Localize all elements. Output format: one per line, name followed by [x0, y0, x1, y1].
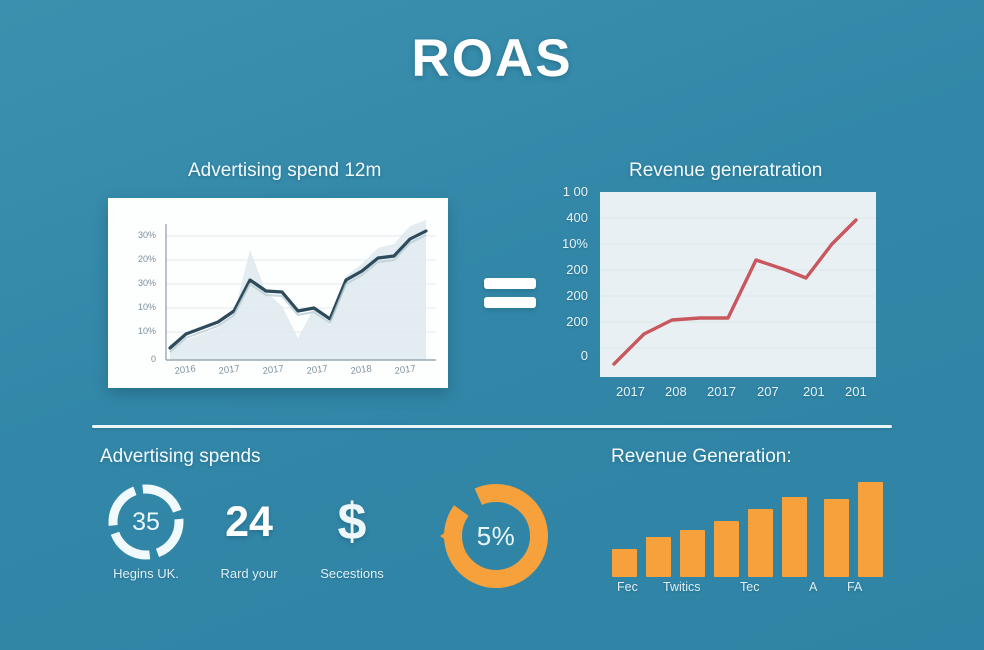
equals-bar-top	[484, 278, 536, 289]
bar-2	[646, 537, 671, 577]
bar-tick-1: Twitics	[663, 580, 701, 594]
left-ytick-2: 30%	[122, 278, 156, 288]
left-ytick-4: 10%	[122, 326, 156, 336]
advertising-spends-heading: Advertising spends	[100, 446, 261, 468]
kpi-number-caption: Rard your	[199, 566, 299, 581]
right-ytick-4: 200	[548, 288, 588, 303]
bar-3	[680, 530, 705, 577]
right-ytick-5: 200	[548, 314, 588, 329]
bar-tick-0: Fec	[617, 580, 638, 594]
right-ytick-2: 10%	[548, 236, 588, 251]
right-ytick-1: 400	[548, 210, 588, 225]
left-ytick-5: 0	[122, 354, 156, 364]
kpi-number-visual: 24	[199, 482, 299, 562]
equals-bar-bottom	[484, 297, 536, 308]
right-xtick-2: 2017	[707, 384, 736, 399]
percent-donut-value: 5%	[434, 474, 558, 598]
right-xtick-3: 207	[757, 384, 779, 399]
kpi-number-24: 24 Rard your	[199, 482, 299, 592]
kpi-donut-visual: 35	[96, 482, 196, 562]
right-xtick-1: 208	[665, 384, 687, 399]
kpi-donut-value: 35	[96, 482, 196, 562]
right-ytick-3: 200	[548, 262, 588, 277]
kpi-dollar-visual: $	[302, 482, 402, 562]
left-ytick-0: 30%	[122, 230, 156, 240]
kpi-dollar: $ Secestions	[302, 482, 402, 592]
revenue-generation-line-chart	[600, 192, 876, 377]
left-ytick-3: 10%	[122, 302, 156, 312]
infographic-canvas: ROAS Advertising spend 12m 30% 20%	[0, 0, 984, 650]
right-ytick-6: 0	[548, 348, 588, 363]
dollar-icon: $	[338, 492, 367, 552]
bar-8	[858, 482, 883, 577]
bar-tick-4: FA	[847, 580, 862, 594]
kpi-donut-caption: Hegins UK.	[96, 566, 196, 581]
left-chart-title: Advertising spend 12m	[188, 160, 381, 182]
bar-7	[824, 499, 849, 577]
page-title: ROAS	[0, 28, 984, 89]
percent-donut-chart: 5%	[434, 474, 558, 598]
equals-icon	[484, 278, 536, 312]
kpi-row: 35 Hegins UK. 24 Rard your $ Secestions	[96, 482, 426, 592]
bar-1	[612, 549, 637, 577]
right-xtick-0: 2017	[616, 384, 645, 399]
bar-tick-3: A	[809, 580, 817, 594]
revenue-generation-heading: Revenue Generation:	[611, 446, 792, 468]
kpi-dollar-caption: Secestions	[302, 566, 402, 581]
revenue-line	[614, 220, 856, 364]
kpi-number-value: 24	[225, 498, 273, 547]
gridlines	[600, 218, 876, 348]
right-xtick-4: 201	[803, 384, 825, 399]
section-divider	[92, 425, 892, 428]
bar-4	[714, 521, 739, 577]
advertising-spend-line-chart	[108, 198, 448, 388]
left-ytick-1: 20%	[122, 254, 156, 264]
bar-6	[782, 497, 807, 577]
right-xtick-5: 201	[845, 384, 867, 399]
area-fill	[170, 220, 426, 360]
revenue-generation-chart-card: 1 00 400 10% 200 200 200 0 2017 208 2017…	[600, 192, 876, 377]
kpi-donut-35: 35 Hegins UK.	[96, 482, 196, 592]
revenue-generation-bar-chart	[612, 472, 872, 577]
right-chart-title: Revenue generatration	[629, 160, 822, 182]
advertising-spend-chart-card: 30% 20% 30% 10% 10% 0 2016 2017 2017 201…	[108, 198, 448, 388]
bar-5	[748, 509, 773, 577]
right-ytick-0: 1 00	[548, 184, 588, 199]
bar-tick-2: Tec	[740, 580, 759, 594]
